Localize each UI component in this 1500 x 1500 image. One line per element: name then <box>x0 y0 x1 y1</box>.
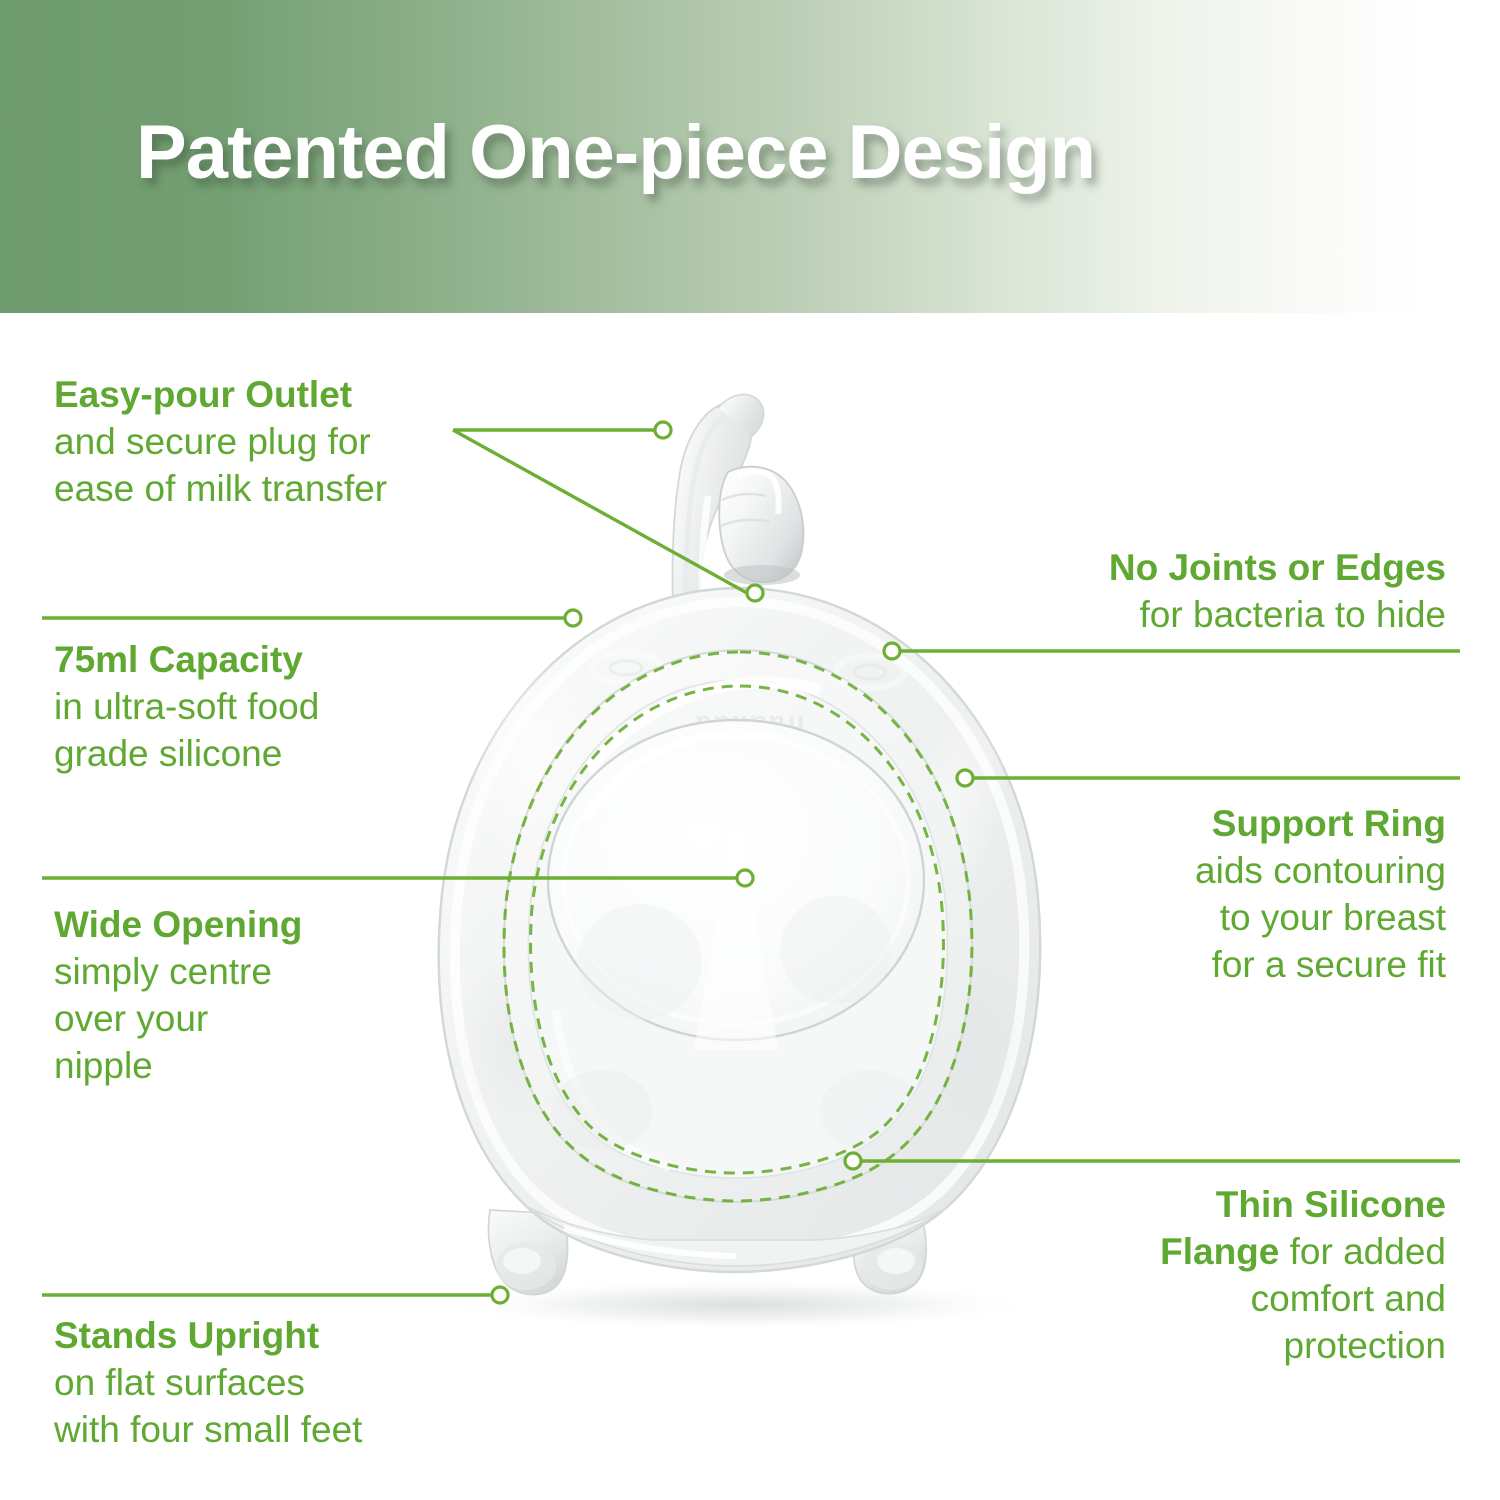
callout-wide-opening-title: Wide Opening <box>54 904 302 945</box>
callout-stands-upright: Stands Upright on flat surfaces with fou… <box>54 1313 504 1454</box>
callout-support-ring-line2: aids contouring <box>976 848 1446 895</box>
header-banner: Patented One-piece Design <box>0 0 1500 313</box>
callout-capacity-line2: in ultra-soft food <box>54 684 454 731</box>
callout-support-ring-line3: to your breast <box>976 895 1446 942</box>
callout-capacity-title: 75ml Capacity <box>54 639 303 680</box>
callout-wide-opening-line3: over your <box>54 996 454 1043</box>
callout-thin-flange-title-line1: Thin Silicone <box>1216 1184 1446 1225</box>
callout-support-ring-line4: for a secure fit <box>976 942 1446 989</box>
callout-thin-flange-line3: comfort and <box>1006 1276 1446 1323</box>
callout-easy-pour-line3: ease of milk transfer <box>54 466 484 513</box>
callout-no-joints-line2: for bacteria to hide <box>976 592 1446 639</box>
callout-no-joints-title: No Joints or Edges <box>1109 547 1446 588</box>
callout-easy-pour-title: Easy-pour Outlet <box>54 374 352 415</box>
callout-thin-flange-line4: protection <box>1006 1323 1446 1370</box>
callout-stands-upright-title: Stands Upright <box>54 1315 319 1356</box>
callout-capacity-line3: grade silicone <box>54 731 454 778</box>
callout-support-ring-title: Support Ring <box>1212 803 1446 844</box>
page-title: Patented One-piece Design <box>136 109 1095 196</box>
callout-thin-flange-title-line2: Flange <box>1160 1231 1279 1272</box>
callout-easy-pour-line2: and secure plug for <box>54 419 484 466</box>
callout-wide-opening-line2: simply centre <box>54 949 454 996</box>
infographic-canvas: Patented One-piece Design <box>0 0 1500 1500</box>
callout-support-ring: Support Ring aids contouring to your bre… <box>976 801 1446 989</box>
callout-thin-flange-rest2: for added <box>1279 1231 1446 1272</box>
callout-easy-pour-outlet: Easy-pour Outlet and secure plug for eas… <box>54 372 484 513</box>
callout-thin-flange: Thin Silicone Flange for added comfort a… <box>1006 1182 1446 1370</box>
callout-wide-opening-line4: nipple <box>54 1043 454 1090</box>
callout-stands-upright-line3: with four small feet <box>54 1407 504 1454</box>
callout-capacity: 75ml Capacity in ultra-soft food grade s… <box>54 637 454 778</box>
callout-wide-opening: Wide Opening simply centre over your nip… <box>54 902 454 1090</box>
callout-no-joints: No Joints or Edges for bacteria to hide <box>976 545 1446 639</box>
callout-stands-upright-line2: on flat surfaces <box>54 1360 504 1407</box>
